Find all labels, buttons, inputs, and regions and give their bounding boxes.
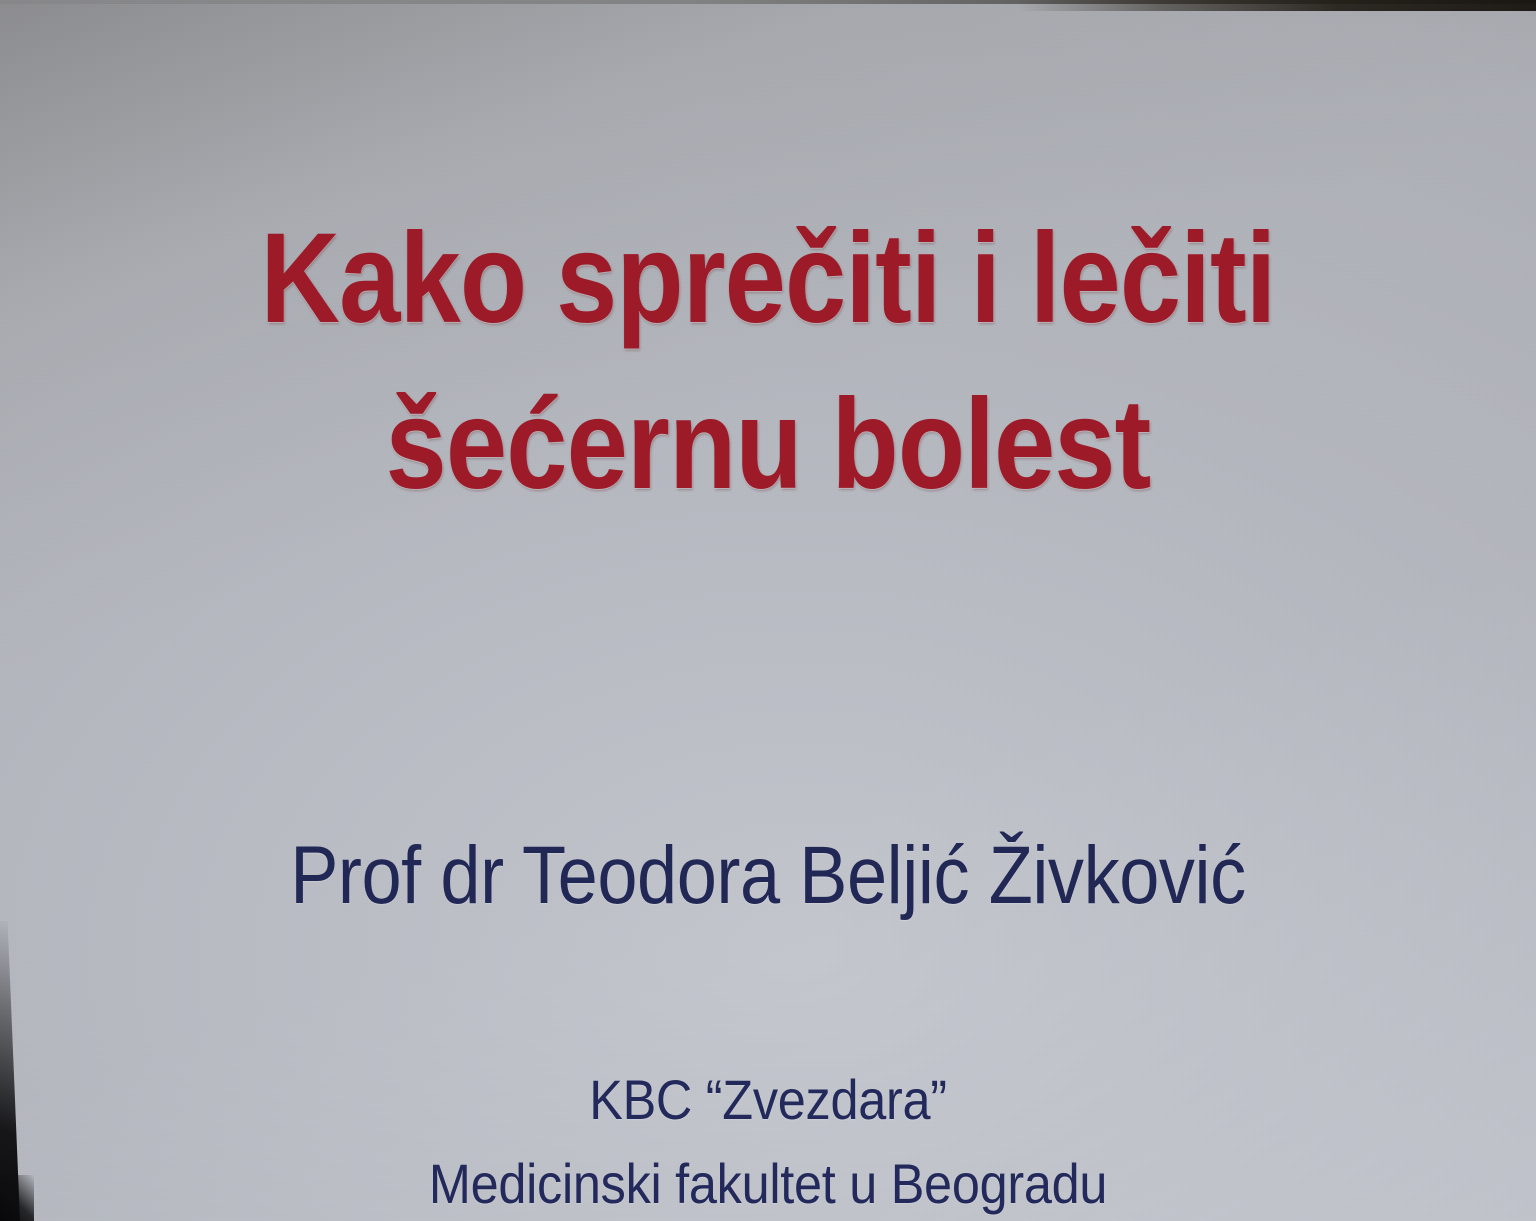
projected-slide-photo: Kako sprečiti i lečiti šećernu bolest Pr… xyxy=(0,0,1536,1221)
slide-content: Kako sprečiti i lečiti šećernu bolest Pr… xyxy=(0,0,1536,1221)
affiliation: KBC “Zvezdara” Medicinski fakultet u Beo… xyxy=(0,1058,1536,1221)
affiliation-line-1: KBC “Zvezdara” xyxy=(77,1058,1459,1142)
affiliation-line-2: Medicinski fakultet u Beogradu xyxy=(77,1142,1459,1221)
presenter-name: Prof dr Teodora Beljić Živković xyxy=(92,831,1444,921)
slide-title: Kako sprečiti i lečiti šećernu bolest xyxy=(0,196,1536,529)
title-line-1: Kako sprečiti i lečiti xyxy=(108,196,1429,362)
title-line-2: šećernu bolest xyxy=(108,362,1429,528)
